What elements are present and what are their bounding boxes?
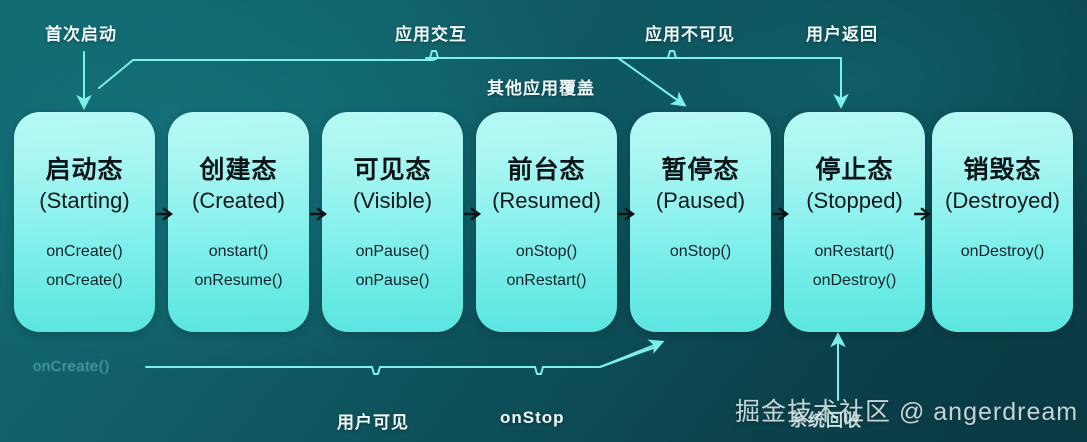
- callback-item: onRestart(): [506, 272, 586, 290]
- state-name-cn: 前台态: [507, 156, 585, 185]
- state-name-cn: 销毁态: [963, 156, 1041, 185]
- arrow-right-icon: [617, 206, 637, 222]
- state-name-cn: 暂停态: [661, 156, 739, 185]
- callback-item: onPause(): [356, 243, 430, 261]
- arrow-right-icon: [309, 206, 329, 222]
- top-label-first-launch: 首次启动: [45, 20, 117, 45]
- state-callbacks: onRestart() onDestroy(): [813, 243, 897, 290]
- top-label-app-invisible: 应用不可见: [645, 20, 735, 45]
- arrow-right-icon: [463, 206, 483, 222]
- state-box-visible[interactable]: 可见态 (Visible) onPause() onPause(): [322, 112, 463, 332]
- state-callbacks: onCreate() onCreate(): [46, 243, 122, 290]
- wire-bottom-right: [543, 347, 656, 367]
- wire-app-interaction-left: [99, 59, 434, 88]
- wire-bottom-notch-onstop: [535, 367, 543, 374]
- state-box-created[interactable]: 创建态 (Created) onstart() onResume(): [168, 112, 309, 332]
- wire-other-app-cover: [618, 58, 680, 102]
- wire-invisible-notch: [668, 51, 676, 58]
- state-name-en: (Created): [192, 188, 285, 213]
- arrow-right-icon: [913, 206, 933, 222]
- state-name-en: (Starting): [39, 188, 129, 213]
- state-callbacks: onStop(): [670, 243, 731, 261]
- callback-item: onCreate(): [46, 243, 122, 261]
- state-name-en: (Visible): [353, 188, 432, 213]
- state-callbacks: onPause() onPause(): [356, 243, 430, 290]
- wire-interaction-bus: [430, 51, 700, 58]
- callback-item: onPause(): [356, 272, 430, 290]
- arrow-right-icon: [155, 206, 175, 222]
- callback-item: onStop(): [516, 243, 577, 261]
- state-callbacks: onStop() onRestart(): [506, 243, 586, 290]
- state-callbacks: onstart() onResume(): [194, 243, 282, 290]
- callback-item: onCreate(): [46, 272, 122, 290]
- wire-bottom-arrow-to-paused: [600, 344, 657, 367]
- state-name-en: (Resumed): [492, 188, 601, 213]
- wire-bottom-notch-visible: [372, 367, 380, 374]
- callback-item: onstart(): [209, 243, 269, 261]
- state-name-en: (Paused): [656, 188, 745, 213]
- state-box-paused[interactable]: 暂停态 (Paused) onStop(): [630, 112, 771, 332]
- callback-item: onDestroy(): [813, 272, 897, 290]
- callback-item: onStop(): [670, 243, 731, 261]
- callback-item: onRestart(): [814, 243, 894, 261]
- state-name-cn: 停止态: [815, 156, 893, 185]
- state-box-starting[interactable]: 启动态 (Starting) onCreate() onCreate(): [14, 112, 155, 332]
- ghost-label-oncreate: onCreate(): [33, 358, 110, 375]
- state-name-cn: 启动态: [45, 156, 123, 185]
- lifecycle-diagram-canvas: 首次启动 应用交互 其他应用覆盖 应用不可见 用户返回 启动态 (Startin…: [0, 0, 1087, 442]
- state-name-cn: 可见态: [353, 156, 431, 185]
- state-name-en: (Stopped): [806, 188, 903, 213]
- top-label-other-app-cover: 其他应用覆盖: [487, 74, 595, 99]
- state-callbacks: onDestroy(): [961, 243, 1045, 261]
- bottom-label-onstop: onStop: [500, 408, 565, 428]
- bottom-label-user-visible: 用户可见: [337, 408, 409, 433]
- arrow-right-icon: [771, 206, 791, 222]
- state-box-resumed[interactable]: 前台态 (Resumed) onStop() onRestart(): [476, 112, 617, 332]
- state-name-en: (Destroyed): [945, 188, 1060, 213]
- callback-item: onDestroy(): [961, 243, 1045, 261]
- state-name-cn: 创建态: [199, 156, 277, 185]
- watermark: 掘金技术社区 @ angerdream: [735, 392, 1078, 428]
- state-box-stopped[interactable]: 停止态 (Stopped) onRestart() onDestroy(): [784, 112, 925, 332]
- top-label-app-interaction: 应用交互: [395, 20, 467, 45]
- state-box-destroyed[interactable]: 销毁态 (Destroyed) onDestroy(): [932, 112, 1073, 332]
- top-label-user-back: 用户返回: [806, 20, 878, 45]
- callback-item: onResume(): [194, 272, 282, 290]
